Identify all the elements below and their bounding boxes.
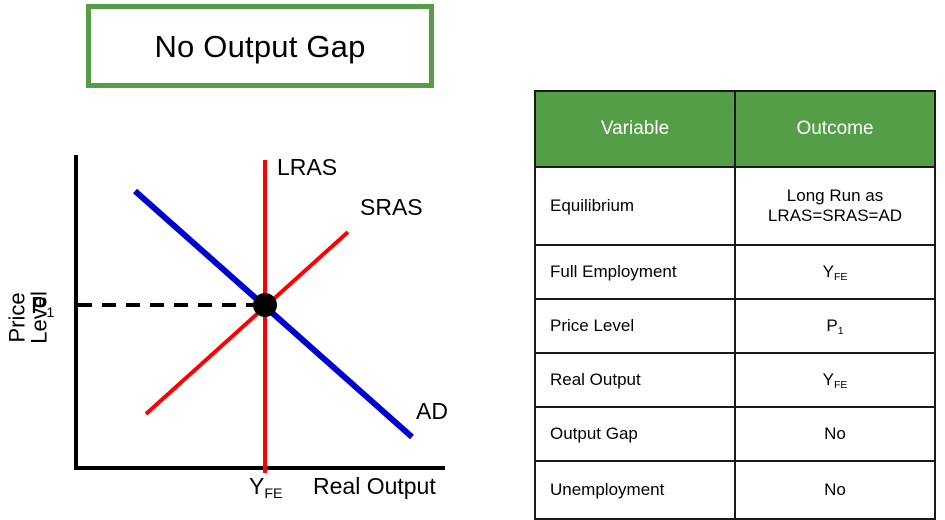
output-tick-label: YFE (249, 475, 283, 498)
outcome-letter: P (826, 316, 837, 335)
table-row: Real Output YFE (535, 353, 935, 407)
output-tick-letter: Y (249, 473, 264, 499)
price-tick-label: P1 (31, 294, 54, 317)
output-tick-subscript: FE (264, 486, 282, 502)
x-axis-label: Real Output (313, 475, 436, 498)
column-header-variable: Variable (535, 91, 735, 167)
cell-outcome: P1 (735, 299, 935, 353)
cell-variable: Unemployment (535, 461, 735, 519)
table-row: Unemployment No (535, 461, 935, 519)
ad-curve-label: AD (416, 400, 448, 423)
table-row: Output Gap No (535, 407, 935, 461)
equilibrium-dot (253, 293, 277, 317)
cell-variable: Price Level (535, 299, 735, 353)
cell-outcome: YFE (735, 353, 935, 407)
diagram-canvas (0, 100, 500, 520)
outcome-subscript: 1 (838, 325, 844, 337)
outcome-letter: Y (823, 262, 834, 281)
cell-outcome: YFE (735, 245, 935, 299)
table-row: Equilibrium Long Run as LRAS=SRAS=AD (535, 167, 935, 245)
lras-curve-label: LRAS (277, 156, 337, 179)
sras-curve-label: SRAS (360, 196, 423, 219)
table-body: Equilibrium Long Run as LRAS=SRAS=AD Ful… (535, 167, 935, 519)
outcome-subscript: FE (834, 271, 847, 283)
sras-curve (146, 232, 348, 414)
cell-outcome: No (735, 461, 935, 519)
cell-outcome: Long Run as LRAS=SRAS=AD (735, 167, 935, 245)
ad-curve (135, 191, 412, 437)
outcome-subscript: FE (834, 379, 847, 391)
price-tick-subscript: 1 (46, 305, 54, 321)
ad-as-diagram: Price Level P1 YFE Real Output LRAS SRAS… (0, 100, 500, 520)
title-box: No Output Gap (86, 4, 434, 88)
column-header-outcome: Outcome (735, 91, 935, 167)
outcome-table: Variable Outcome Equilibrium Long Run as… (534, 90, 936, 520)
price-tick-letter: P (31, 292, 46, 318)
cell-variable: Equilibrium (535, 167, 735, 245)
table-row: Full Employment YFE (535, 245, 935, 299)
page-title: No Output Gap (154, 31, 365, 62)
table-header-row: Variable Outcome (535, 91, 935, 167)
cell-variable: Full Employment (535, 245, 735, 299)
cell-outcome: No (735, 407, 935, 461)
cell-variable: Real Output (535, 353, 735, 407)
outcome-letter: Y (823, 370, 834, 389)
cell-variable: Output Gap (535, 407, 735, 461)
table-header: Variable Outcome (535, 91, 935, 167)
table-row: Price Level P1 (535, 299, 935, 353)
